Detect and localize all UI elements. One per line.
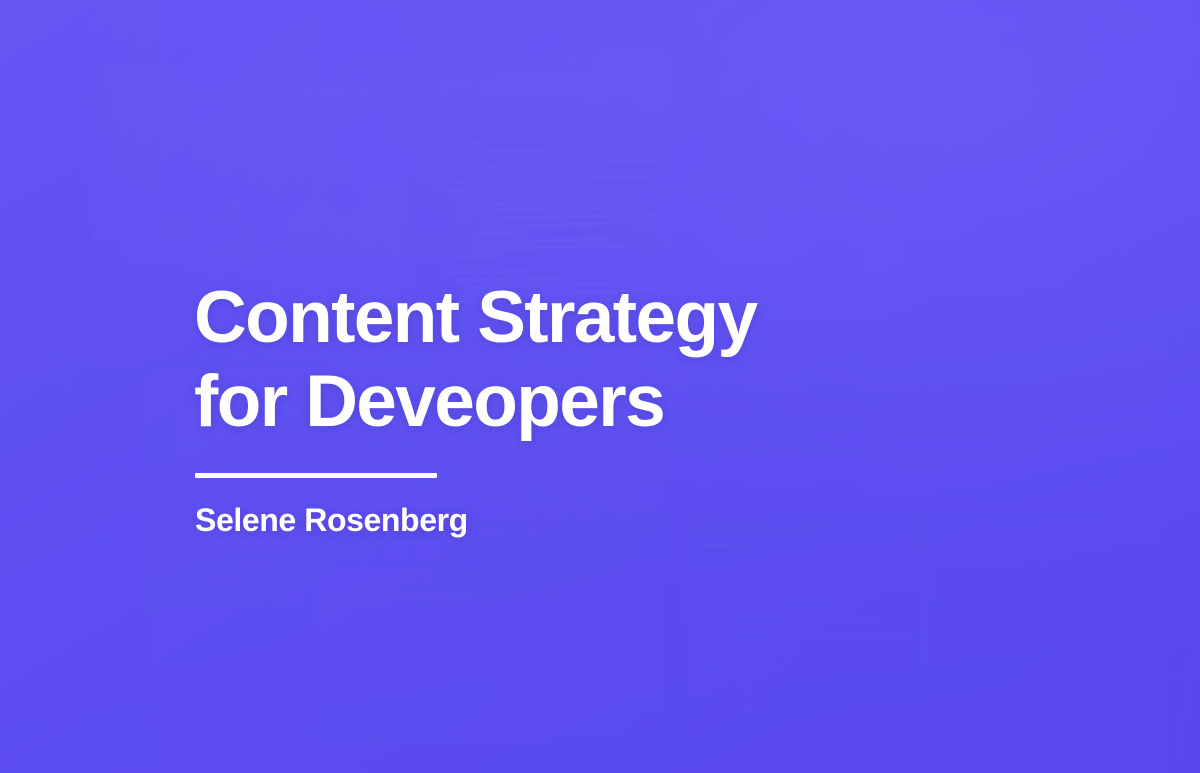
title-line-1: Content Strategy — [194, 276, 954, 360]
presentation-slide: Atom File Edit View Selection Find Packa… — [0, 0, 1200, 773]
author-byline: Selene Rosenberg — [195, 502, 954, 539]
title-line-2: for Deveopers — [194, 360, 954, 444]
slide-content: Content Strategy for Deveopers Selene Ro… — [194, 276, 954, 539]
title-divider — [195, 473, 437, 478]
page-title: Content Strategy for Deveopers — [194, 276, 954, 444]
